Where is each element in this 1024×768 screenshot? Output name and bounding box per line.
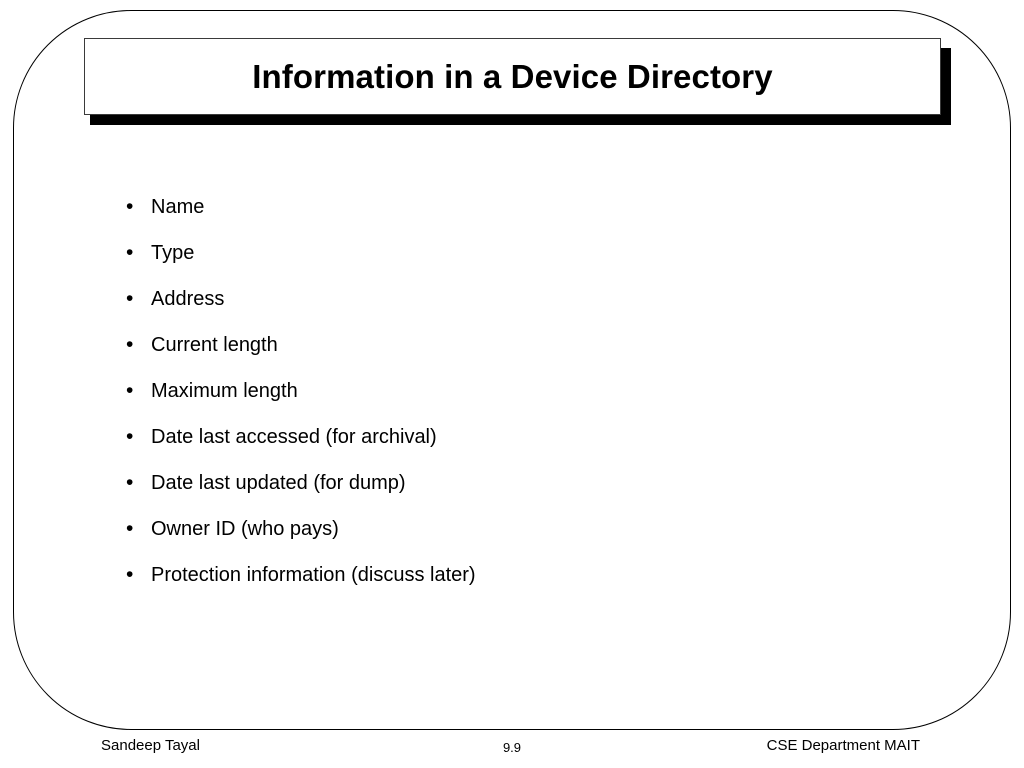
list-item-label: Type [151,239,194,267]
list-item-label: Address [151,285,224,313]
list-item-label: Owner ID (who pays) [151,515,339,543]
list-item: • Type [126,239,886,285]
list-item: • Address [126,285,886,331]
list-item: • Current length [126,331,886,377]
bullet-dot-icon: • [126,331,151,359]
list-item-label: Protection information (discuss later) [151,561,476,589]
list-item-label: Maximum length [151,377,298,405]
title-box: Information in a Device Directory [84,38,941,115]
slide-footer: Sandeep Tayal 9.9 CSE Department MAIT [0,736,1024,768]
bullet-dot-icon: • [126,239,151,267]
bullet-dot-icon: • [126,561,151,589]
list-item-label: Name [151,193,204,221]
list-item: • Name [126,193,886,239]
bullet-dot-icon: • [126,469,151,497]
list-item-label: Date last accessed (for archival) [151,423,437,451]
list-item: • Maximum length [126,377,886,423]
page-title: Information in a Device Directory [252,60,772,93]
bullet-dot-icon: • [126,423,151,451]
bullet-dot-icon: • [126,193,151,221]
footer-department: CSE Department MAIT [767,736,920,756]
list-item: • Protection information (discuss later) [126,561,886,607]
list-item: • Owner ID (who pays) [126,515,886,561]
bullet-dot-icon: • [126,285,151,313]
list-item: • Date last accessed (for archival) [126,423,886,469]
bullet-list: • Name • Type • Address • Current length… [126,193,886,607]
list-item-label: Date last updated (for dump) [151,469,406,497]
bullet-dot-icon: • [126,515,151,543]
bullet-dot-icon: • [126,377,151,405]
list-item: • Date last updated (for dump) [126,469,886,515]
list-item-label: Current length [151,331,278,359]
